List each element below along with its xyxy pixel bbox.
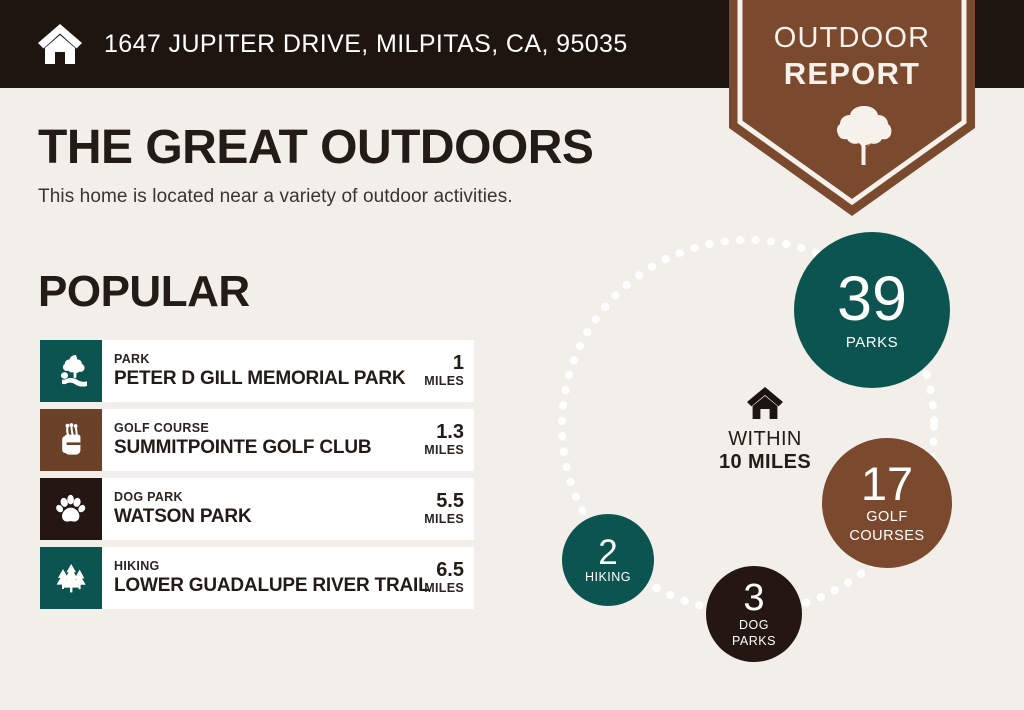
list-item-texts: GOLF COURSE SUMMITPOINTE GOLF CLUB (114, 421, 371, 458)
list-item-texts: PARK PETER D GILL MEMORIAL PARK (114, 352, 405, 389)
bubble-golf-value: 17 (861, 461, 913, 507)
list-item[interactable]: HIKING LOWER GUADALUPE RIVER TRAIL 6.5 M… (40, 547, 474, 609)
outdoor-bubble-chart: 39 PARKS 17 GOLF COURSES 3 DOG PARKS 2 H… (520, 226, 1020, 690)
list-item-distance-unit: MILES (424, 374, 464, 389)
home-icon (36, 22, 84, 66)
list-item-category: GOLF COURSE (114, 421, 371, 437)
list-item-name: PETER D GILL MEMORIAL PARK (114, 368, 405, 390)
list-item-name: SUMMITPOINTE GOLF CLUB (114, 437, 371, 459)
list-item-name: LOWER GUADALUPE RIVER TRAIL (114, 575, 416, 597)
paw-print-icon (40, 478, 102, 540)
list-item-category: HIKING (114, 559, 416, 575)
section-title-popular: POPULAR (38, 270, 250, 314)
list-item-distance-value: 6.5 (424, 560, 464, 581)
tree-icon (836, 104, 892, 166)
list-item[interactable]: DOG PARK WATSON PARK 5.5 MILES (40, 478, 474, 540)
list-item-body: PARK PETER D GILL MEMORIAL PARK 1 MILES (102, 340, 474, 402)
bubble-dog-label-line2: PARKS (732, 635, 776, 649)
list-item-distance: 1 MILES (416, 353, 464, 389)
list-item-distance-value: 5.5 (424, 491, 464, 512)
popular-list: PARK PETER D GILL MEMORIAL PARK 1 MILES (40, 340, 474, 616)
list-item-distance-unit: MILES (424, 443, 464, 458)
list-item-body: HIKING LOWER GUADALUPE RIVER TRAIL 6.5 M… (102, 547, 474, 609)
bubble-parks-value: 39 (837, 269, 907, 331)
bubble-golf-label-line1: GOLF (866, 510, 907, 526)
header-address: 1647 JUPITER DRIVE, MILPITAS, CA, 95035 (104, 30, 628, 59)
chart-center-line-1: WITHIN (685, 428, 845, 451)
bubble-hiking-value: 2 (598, 536, 617, 570)
park-tree-icon (40, 340, 102, 402)
list-item-body: DOG PARK WATSON PARK 5.5 MILES (102, 478, 474, 540)
list-item-distance-value: 1.3 (424, 422, 464, 443)
list-item-body: GOLF COURSE SUMMITPOINTE GOLF CLUB 1.3 M… (102, 409, 474, 471)
bubble-parks-label: PARKS (846, 335, 898, 351)
list-item-category: DOG PARK (114, 490, 251, 506)
list-item-distance-unit: MILES (424, 512, 464, 527)
bubble-hiking-label: HIKING (585, 571, 631, 585)
list-item[interactable]: PARK PETER D GILL MEMORIAL PARK 1 MILES (40, 340, 474, 402)
outdoor-report-badge: OUTDOOR REPORT (729, 0, 975, 216)
pine-trees-icon (40, 547, 102, 609)
page-subtitle: This home is located near a variety of o… (38, 186, 513, 208)
page-title: THE GREAT OUTDOORS (38, 124, 593, 172)
list-item-distance-unit: MILES (424, 581, 464, 596)
list-item-name: WATSON PARK (114, 506, 251, 528)
list-item-category: PARK (114, 352, 405, 368)
list-item-distance-value: 1 (424, 353, 464, 374)
golf-bag-icon (40, 409, 102, 471)
bubble-dog-parks[interactable]: 3 DOG PARKS (706, 566, 802, 662)
list-item[interactable]: GOLF COURSE SUMMITPOINTE GOLF CLUB 1.3 M… (40, 409, 474, 471)
bubble-dog-label-line1: DOG (739, 619, 769, 633)
list-item-texts: DOG PARK WATSON PARK (114, 490, 251, 527)
bubble-dog-value: 3 (743, 580, 764, 617)
list-item-texts: HIKING LOWER GUADALUPE RIVER TRAIL (114, 559, 416, 596)
list-item-distance: 5.5 MILES (416, 491, 464, 527)
bubble-hiking[interactable]: 2 HIKING (562, 514, 654, 606)
bubble-parks[interactable]: 39 PARKS (794, 232, 950, 388)
chart-center-label: WITHIN 10 MILES (685, 386, 845, 474)
list-item-distance: 6.5 MILES (416, 560, 464, 596)
bubble-golf-label-line2: COURSES (849, 529, 924, 545)
list-item-distance: 1.3 MILES (416, 422, 464, 458)
home-icon (746, 386, 784, 420)
chart-center-line-2: 10 MILES (685, 451, 845, 474)
